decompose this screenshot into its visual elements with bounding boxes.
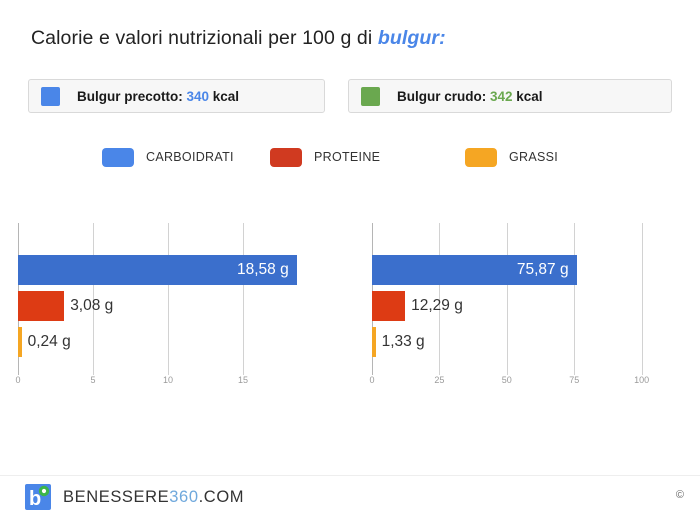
legend-label-proteine: PROTEINE	[314, 150, 380, 164]
kcal-precotto-value: 340	[187, 89, 210, 104]
kcal-precotto-unit: kcal	[209, 89, 239, 104]
page-title-prefix: Calorie e valori nutrizionali per 100 g …	[31, 27, 378, 49]
legend-label-carboidrati: CARBOIDRATI	[146, 150, 234, 164]
brand-name-number: 360	[169, 488, 198, 506]
brand-name: BENESSERE360.COM	[63, 488, 244, 507]
infographic-page: Calorie e valori nutrizionali per 100 g …	[0, 0, 700, 525]
kcal-crudo-value: 342	[490, 89, 513, 104]
kcal-box-precotto: Bulgur precotto: 340 kcal	[28, 79, 325, 113]
legend-label-grassi: GRASSI	[509, 150, 558, 164]
legend-item-proteine: PROTEINE	[270, 146, 380, 168]
chart-bulgur-crudo: 75,87 g12,29 g1,33 g 0255075100	[372, 215, 674, 405]
kcal-summary-row: Bulgur precotto: 340 kcal Bulgur crudo: …	[28, 79, 672, 113]
gridline-10	[168, 223, 169, 375]
kcal-crudo-label: Bulgur crudo:	[397, 89, 490, 104]
kcal-box-precotto-text: Bulgur precotto: 340 kcal	[77, 89, 239, 104]
footer: b BENESSERE360.COM ©	[0, 475, 700, 526]
green-swatch-icon	[361, 87, 380, 106]
gridline-50	[507, 223, 508, 375]
gridline-15	[243, 223, 244, 375]
x-tick-label-100: 100	[634, 375, 649, 385]
kcal-precotto-label: Bulgur precotto:	[77, 89, 187, 104]
chart-crudo-plot-area: 75,87 g12,29 g1,33 g	[372, 215, 674, 375]
bar-proteine[interactable]	[372, 291, 405, 321]
legend-item-carboidrati: CARBOIDRATI	[102, 146, 234, 168]
brand-name-tld: .COM	[199, 488, 244, 506]
copyright-symbol: ©	[676, 489, 684, 501]
bar-value-carboidrati: 75,87 g	[517, 255, 569, 285]
legend-item-grassi: GRASSI	[465, 146, 558, 168]
chart-precotto-plot-area: 18,58 g3,08 g0,24 g	[18, 215, 318, 375]
blue-swatch-icon	[41, 87, 60, 106]
x-tick-label-0: 0	[15, 375, 20, 385]
chart-crudo-x-axis: 0255075100	[372, 375, 674, 399]
x-tick-label-50: 50	[502, 375, 512, 385]
bar-value-carboidrati: 18,58 g	[237, 255, 289, 285]
charts-container: 18,58 g3,08 g0,24 g 051015 75,87 g12,29 …	[0, 215, 700, 405]
nutrient-legend: CARBOIDRATI PROTEINE GRASSI	[102, 146, 602, 168]
carboidrati-swatch-icon	[102, 148, 134, 167]
brand[interactable]: b BENESSERE360.COM	[25, 483, 244, 511]
x-tick-label-15: 15	[238, 375, 248, 385]
kcal-box-crudo: Bulgur crudo: 342 kcal	[348, 79, 672, 113]
x-tick-label-0: 0	[369, 375, 374, 385]
x-tick-label-75: 75	[569, 375, 579, 385]
kcal-crudo-unit: kcal	[513, 89, 543, 104]
benessere360-logo-icon: b	[25, 484, 51, 510]
page-title-highlight: bulgur:	[378, 27, 446, 49]
bar-value-grassi: 0,24 g	[28, 327, 71, 357]
bar-value-grassi: 1,33 g	[382, 327, 425, 357]
x-tick-label-25: 25	[434, 375, 444, 385]
bar-value-proteine: 3,08 g	[70, 291, 113, 321]
bar-proteine[interactable]	[18, 291, 64, 321]
x-tick-label-10: 10	[163, 375, 173, 385]
brand-name-main: BENESSERE	[63, 488, 169, 506]
page-title: Calorie e valori nutrizionali per 100 g …	[31, 27, 446, 50]
chart-precotto-x-axis: 051015	[18, 375, 318, 399]
bar-grassi[interactable]	[372, 327, 376, 357]
chart-bulgur-precotto: 18,58 g3,08 g0,24 g 051015	[18, 215, 318, 405]
kcal-box-crudo-text: Bulgur crudo: 342 kcal	[397, 89, 543, 104]
bar-value-proteine: 12,29 g	[411, 291, 463, 321]
gridline-75	[574, 223, 575, 375]
x-tick-label-5: 5	[90, 375, 95, 385]
gridline-100	[642, 223, 643, 375]
grassi-swatch-icon	[465, 148, 497, 167]
bar-grassi[interactable]	[18, 327, 22, 357]
proteine-swatch-icon	[270, 148, 302, 167]
